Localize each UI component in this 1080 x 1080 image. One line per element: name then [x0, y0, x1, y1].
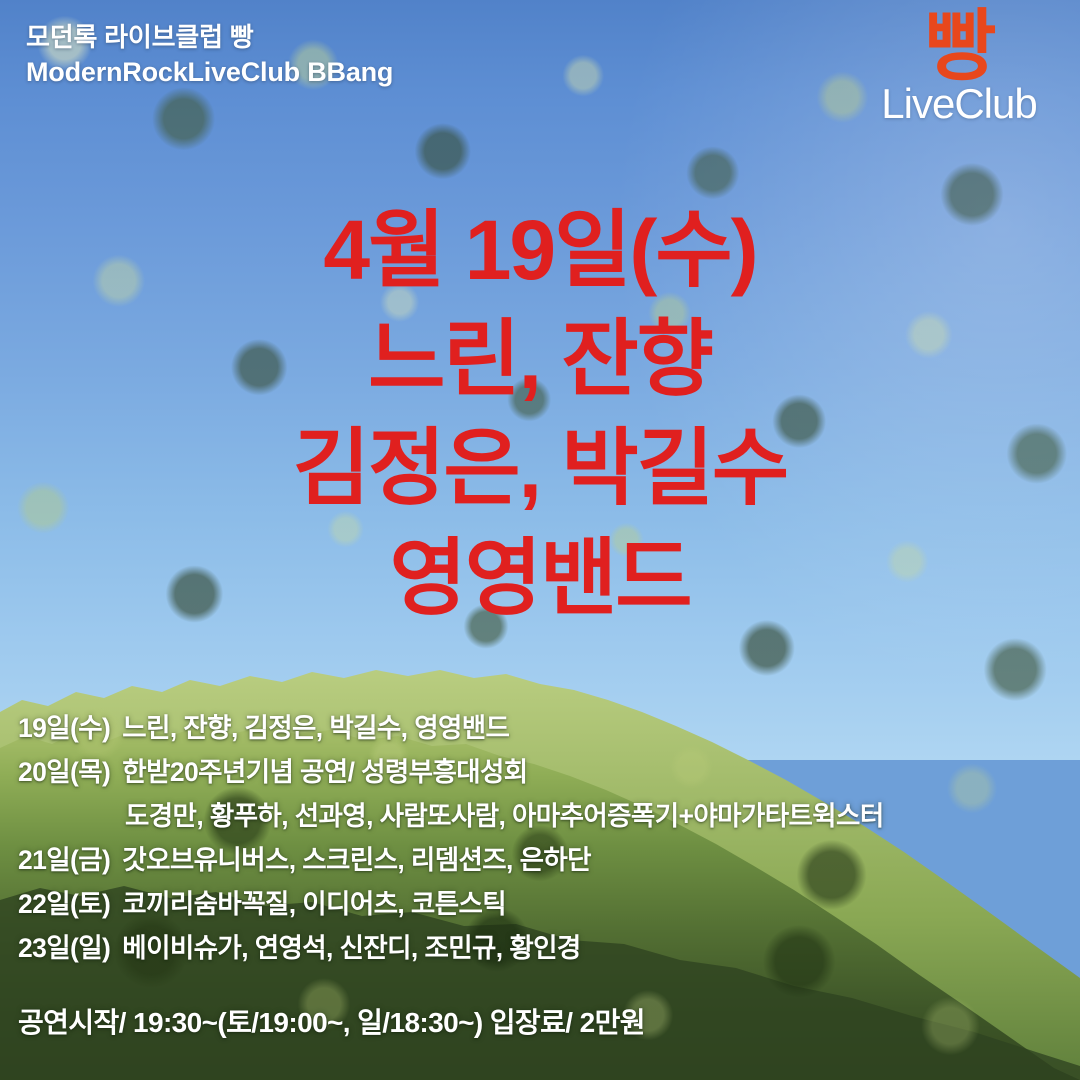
schedule-row: 22일(토)코끼리숨바꼭질, 이디어츠, 코튼스틱 — [18, 882, 1080, 926]
liveclub-wordmark: LiveClub — [864, 83, 1054, 125]
headline-line-act-2: 김정은, 박길수 — [0, 414, 1080, 523]
bbang-liveclub-logo: 빵 LiveClub — [864, 12, 1054, 125]
schedule-acts: 도경만, 황푸하, 선과영, 사람또사람, 아마추어증폭기+야마가타트윅스터 — [113, 794, 884, 838]
club-name-english: ModernRockLiveClub BBang — [26, 56, 393, 89]
schedule-row: 23일(일)베이비슈가, 연영석, 신잔디, 조민규, 황인경 — [18, 926, 1080, 970]
schedule-day: 21일(금) — [18, 838, 110, 882]
schedule-day: 23일(일) — [18, 926, 110, 970]
headline-line-act-3: 영영밴드 — [0, 524, 1080, 633]
schedule-row: 20일(목)한받20주년기념 공연/ 성령부흥대성회 — [18, 750, 1080, 794]
schedule-acts: 갓오브유니버스, 스크린스, 리뎀션즈, 은하단 — [110, 838, 591, 882]
schedule-row: 21일(금)갓오브유니버스, 스크린스, 리뎀션즈, 은하단 — [18, 838, 1080, 882]
schedule-acts: 베이비슈가, 연영석, 신잔디, 조민규, 황인경 — [110, 926, 580, 970]
club-name-korean: 모던록 라이브클럽 빵 — [26, 22, 393, 54]
club-name: 모던록 라이브클럽 빵 ModernRockLiveClub BBang — [26, 22, 393, 89]
event-poster: 모던록 라이브클럽 빵 ModernRockLiveClub BBang 빵 L… — [0, 0, 1080, 1080]
schedule-acts: 느린, 잔향, 김정은, 박길수, 영영밴드 — [110, 706, 509, 750]
schedule-acts: 한받20주년기념 공연/ 성령부흥대성회 — [110, 750, 527, 794]
headline-line-date: 4월 19일(수) — [0, 196, 1080, 305]
weekly-schedule-list: 19일(수)느린, 잔향, 김정은, 박길수, 영영밴드 20일(목)한받20주… — [18, 706, 1080, 970]
headline-line-act-1: 느린, 잔향 — [0, 305, 1080, 414]
schedule-day: 20일(목) — [18, 750, 110, 794]
schedule-acts: 코끼리숨바꼭질, 이디어츠, 코튼스틱 — [110, 882, 506, 926]
schedule-row-continuation: 도경만, 황푸하, 선과영, 사람또사람, 아마추어증폭기+야마가타트윅스터 — [18, 794, 1080, 838]
schedule-day: 19일(수) — [18, 706, 110, 750]
bbang-logo-mark: 빵 — [864, 12, 1054, 81]
schedule-row: 19일(수)느린, 잔향, 김정은, 박길수, 영영밴드 — [18, 706, 1080, 750]
schedule-day: 22일(토) — [18, 882, 110, 926]
showtime-and-ticket-info: 공연시작/ 19:30~(토/19:00~, 일/18:30~) 입장료/ 2만… — [18, 1003, 645, 1043]
headline-block: 4월 19일(수) 느린, 잔향 김정은, 박길수 영영밴드 — [0, 196, 1080, 633]
